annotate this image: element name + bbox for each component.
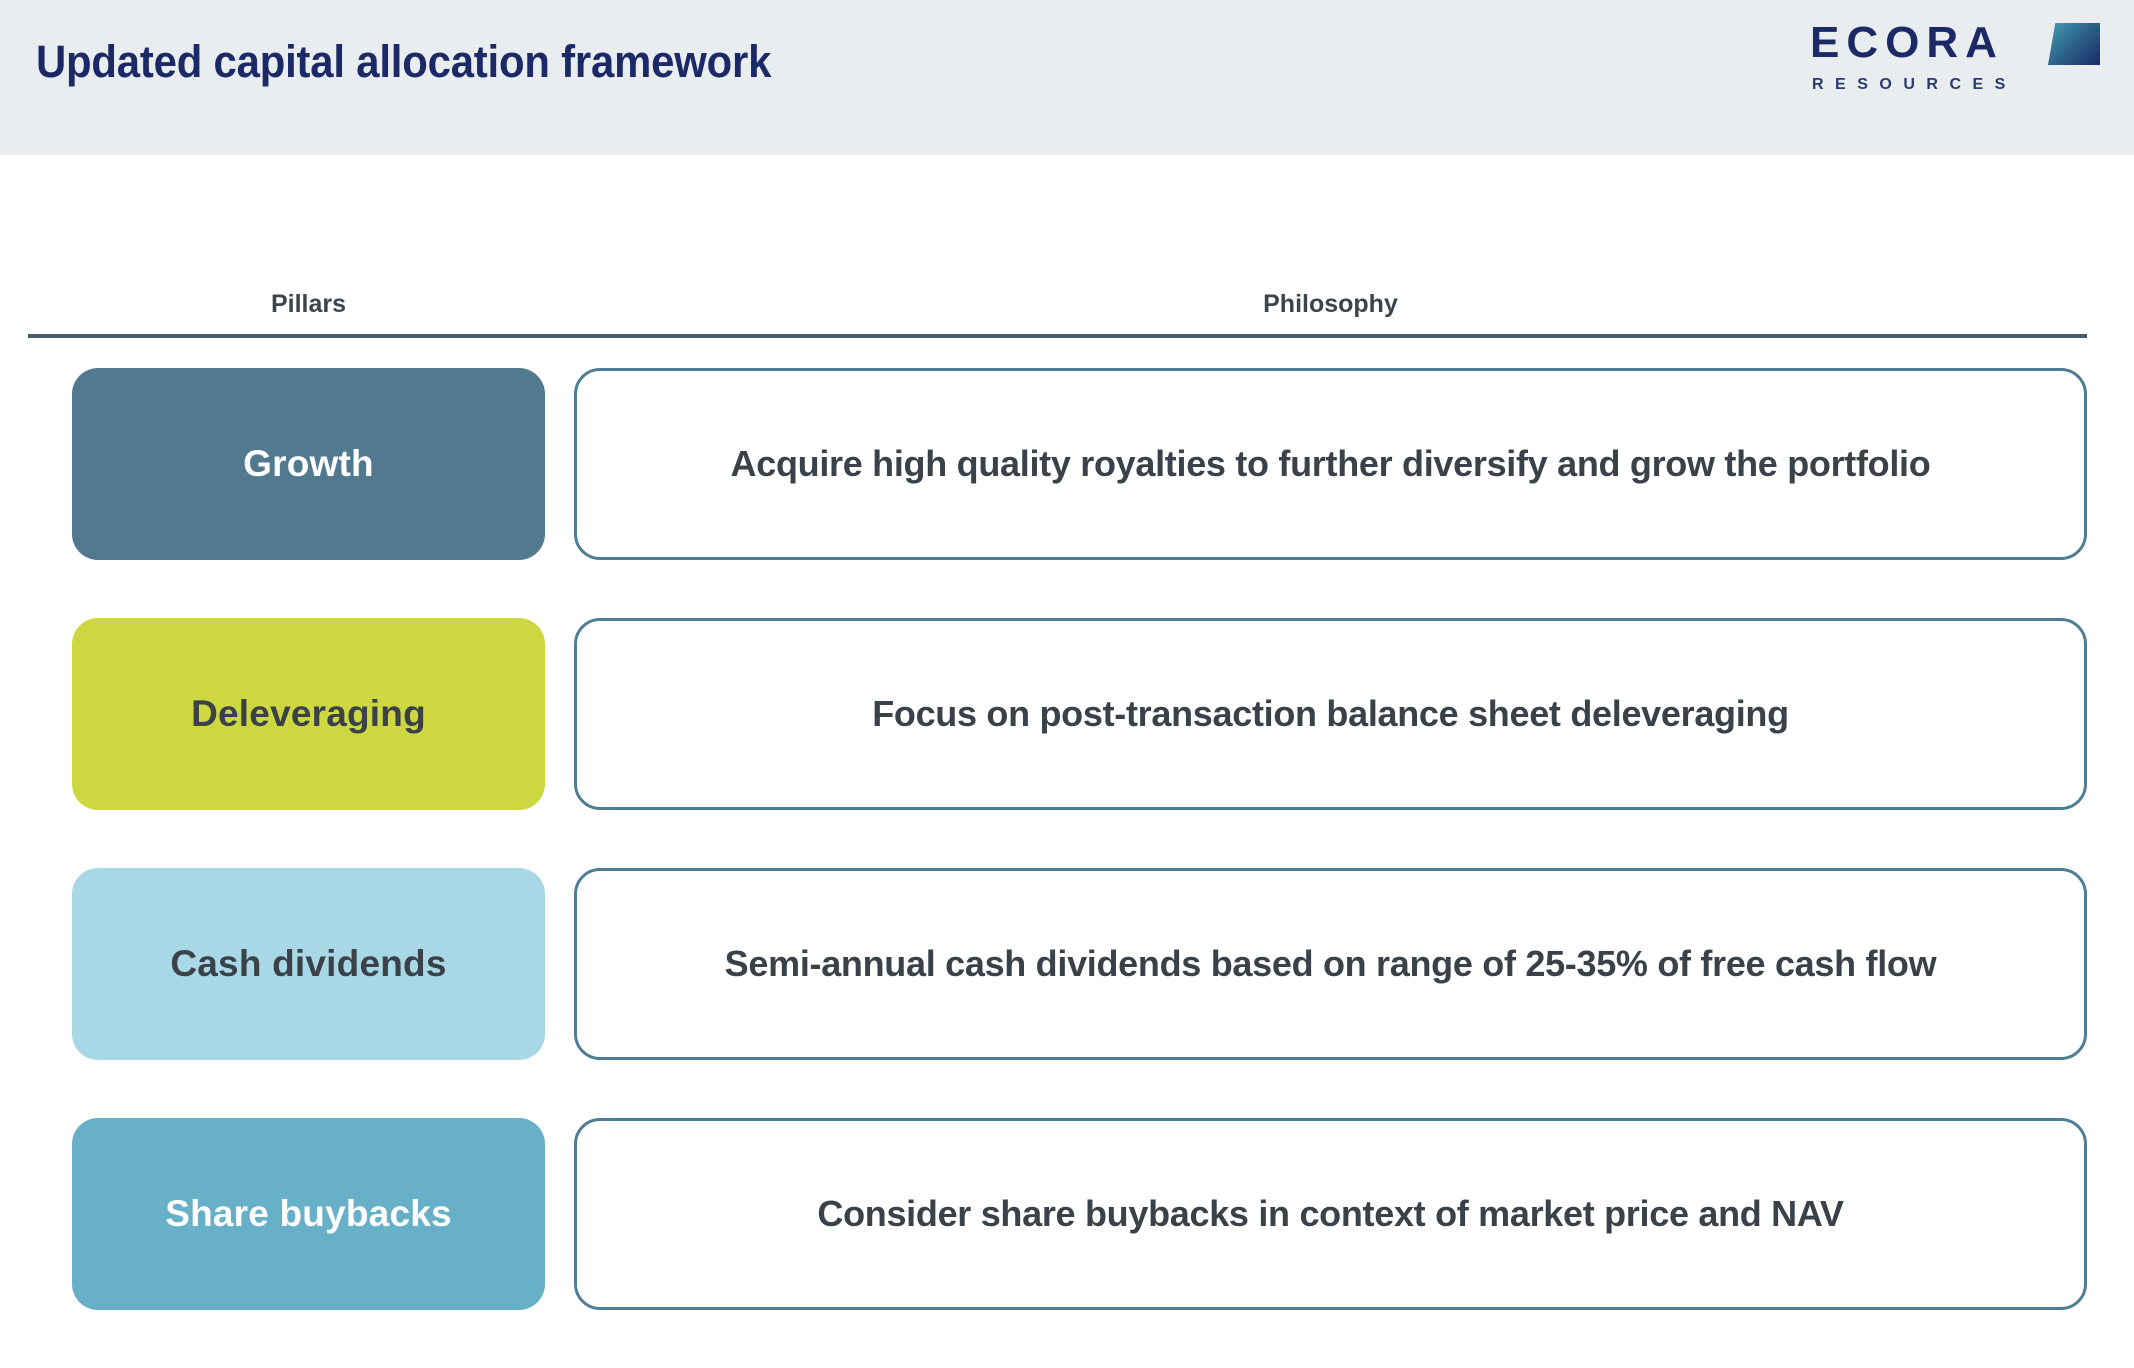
pillar-label: Share buybacks	[165, 1193, 452, 1235]
column-header-philosophy: Philosophy	[574, 290, 2087, 319]
framework-rows: Growth Acquire high quality royalties to…	[0, 368, 2134, 1368]
table-row: Cash dividends Semi-annual cash dividend…	[0, 868, 2134, 1060]
table-row: Deleveraging Focus on post-transaction b…	[0, 618, 2134, 810]
pillar-card-cash-dividends[interactable]: Cash dividends	[72, 868, 545, 1060]
column-header-pillars: Pillars	[72, 290, 545, 319]
ecora-logo: ECORA RESOURCES	[1810, 20, 2100, 102]
pillar-label: Deleveraging	[191, 693, 426, 735]
philosophy-text: Acquire high quality royalties to furthe…	[731, 443, 1931, 485]
pillar-card-deleveraging[interactable]: Deleveraging	[72, 618, 545, 810]
header-divider	[28, 334, 2087, 338]
page-title: Updated capital allocation framework	[36, 36, 771, 88]
philosophy-text: Focus on post-transaction balance sheet …	[872, 693, 1789, 735]
philosophy-card-cash-dividends[interactable]: Semi-annual cash dividends based on rang…	[574, 868, 2087, 1060]
logo-wordmark-row: ECORA	[1810, 20, 2004, 66]
ecora-gradient-mark-icon	[2048, 23, 2100, 65]
pillar-label: Cash dividends	[170, 943, 446, 985]
pillar-label: Growth	[243, 443, 374, 485]
philosophy-card-growth[interactable]: Acquire high quality royalties to furthe…	[574, 368, 2087, 560]
philosophy-card-share-buybacks[interactable]: Consider share buybacks in context of ma…	[574, 1118, 2087, 1310]
philosophy-card-deleveraging[interactable]: Focus on post-transaction balance sheet …	[574, 618, 2087, 810]
pillar-card-share-buybacks[interactable]: Share buybacks	[72, 1118, 545, 1310]
logo-wordmark: ECORA	[1810, 20, 2004, 66]
philosophy-text: Semi-annual cash dividends based on rang…	[725, 943, 1937, 985]
table-row: Share buybacks Consider share buybacks i…	[0, 1118, 2134, 1310]
philosophy-text: Consider share buybacks in context of ma…	[817, 1193, 1843, 1235]
pillar-card-growth[interactable]: Growth	[72, 368, 545, 560]
table-row: Growth Acquire high quality royalties to…	[0, 368, 2134, 560]
logo-subtitle: RESOURCES	[1812, 76, 2017, 94]
